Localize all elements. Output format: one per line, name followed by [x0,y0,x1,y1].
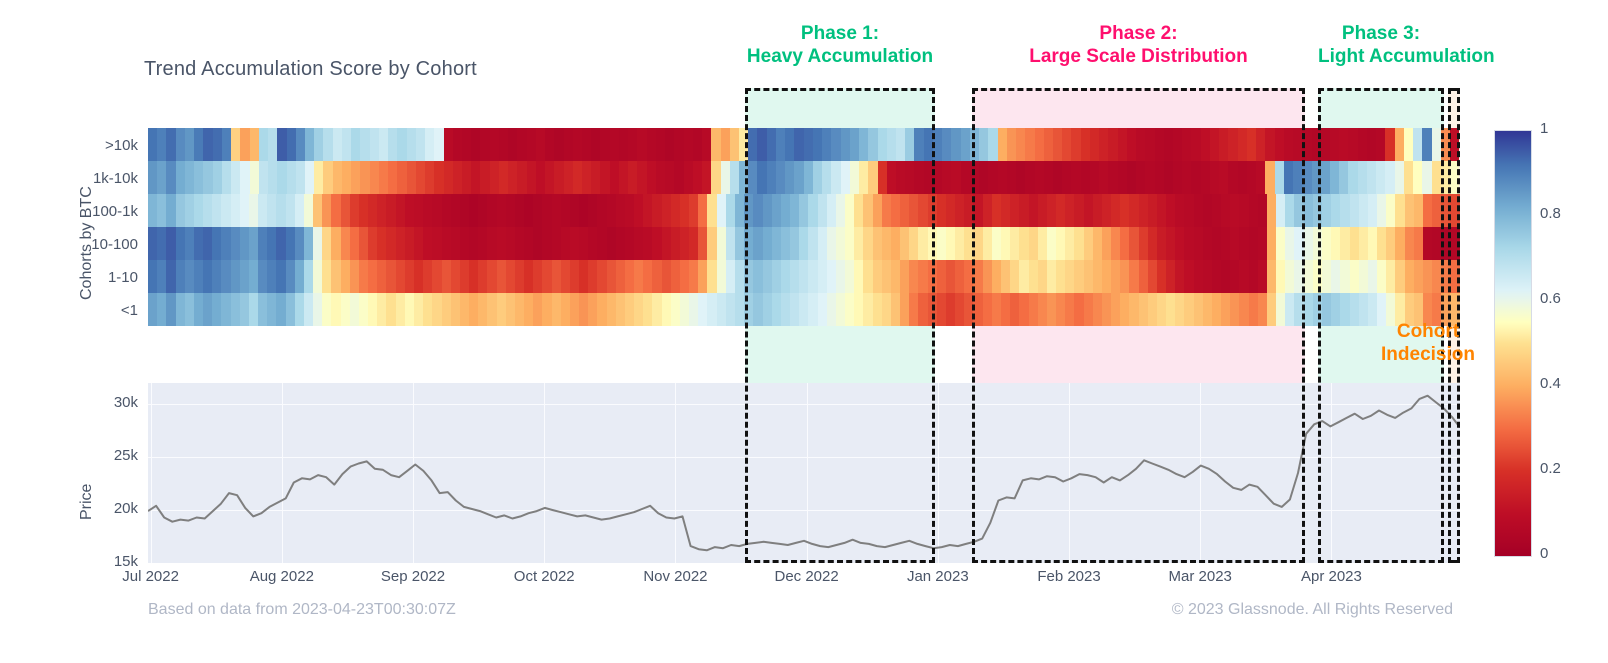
heatmap-cell [937,293,946,326]
price-y-tick: 25k [18,447,138,464]
heatmap-cell [536,128,545,161]
heatmap-cell [1304,260,1313,293]
heatmap-cell [379,161,388,194]
heatmap-cell [625,260,634,293]
heatmap-cell [287,161,296,194]
heatmap-cell [573,128,582,161]
heatmap-cell [432,260,441,293]
heatmap-cell [194,161,203,194]
heatmap-cell [570,293,579,326]
heatmap-cell [166,293,175,326]
heatmap-cell [157,260,166,293]
heatmap-cell [643,194,652,227]
heatmap-cell [405,260,414,293]
heatmap-cell [277,161,286,194]
heatmap-cell [561,293,570,326]
heatmap-cell [735,293,744,326]
phase-2-title: Phase 2: [972,22,1305,45]
colorbar-tick: 0 [1540,545,1548,562]
phase-1-border [745,88,935,563]
heatmap-cell [386,260,395,293]
heatmap-cell [323,161,332,194]
heatmap-cell [350,260,359,293]
heatmap-cell [499,128,508,161]
heatmap-cell [506,227,515,260]
heatmap-cell [588,260,597,293]
heatmap-cell [185,194,194,227]
heatmap-cell [721,161,730,194]
colorbar-tick: 1 [1540,120,1548,137]
x-axis-tick: Sep 2022 [353,568,473,585]
heatmap-cell [582,161,591,194]
heatmap-cell [148,227,157,260]
heatmap-cell [176,260,185,293]
heatmap-cell [295,194,304,227]
heatmap-cell [185,293,194,326]
heatmap-cell [717,293,726,326]
heatmap-cell [295,260,304,293]
heatmap-cell [647,161,656,194]
heatmap-cell [616,194,625,227]
heatmap-cell [176,227,185,260]
heatmap-cell [619,128,628,161]
cohort-indecision-title: Cohort [1368,320,1488,343]
heatmap-cell [157,128,166,161]
heatmap-cell [619,161,628,194]
phase-1-title: Phase 1: [745,22,935,45]
heatmap-cell [396,260,405,293]
heatmap-cell [698,293,707,326]
x-axis-tick: Jan 2023 [878,568,998,585]
heatmap-cell [527,128,536,161]
heatmap-cell [414,260,423,293]
heatmap-cell [287,128,296,161]
heatmap-cell [499,161,508,194]
price-y-tick: 30k [18,394,138,411]
heatmap-cell [625,293,634,326]
heatmap-cell [304,194,313,227]
heatmap-cell [258,293,267,326]
page-title: Trend Accumulation Score by Cohort [144,58,477,81]
heatmap-cell [148,194,157,227]
heatmap-cell [286,227,295,260]
heatmap-cell [176,128,185,161]
heatmap-cell [462,161,471,194]
heatmap-cell [194,194,203,227]
heatmap-cell [524,260,533,293]
heatmap-cell [377,227,386,260]
heatmap-cell [735,194,744,227]
heatmap-cell [946,260,955,293]
heatmap-cell [185,227,194,260]
heatmap-cell [469,227,478,260]
heatmap-cell [497,194,506,227]
heatmap-cell [561,260,570,293]
heatmap-cell [515,260,524,293]
heatmap-cell [955,293,964,326]
heatmap-cell [721,128,730,161]
heatmap-cell [397,161,406,194]
heatmap-cell [579,194,588,227]
heatmap-cell [671,260,680,293]
heatmap-cell [647,128,656,161]
heatmap-cell [600,128,609,161]
heatmap-cell [377,293,386,326]
heatmap-cell [148,161,157,194]
heatmap-cell [194,260,203,293]
heatmap-cell [711,161,720,194]
heatmap-cell [231,227,240,260]
heatmap-cell [267,227,276,260]
heatmap-cell [480,128,489,161]
heatmap-cell [368,194,377,227]
heatmap-cell [423,260,432,293]
heatmap-cell [564,161,573,194]
heatmap-cell [331,194,340,227]
heatmap-cell [951,128,960,161]
heatmap-cell [702,128,711,161]
heatmap-cell [487,227,496,260]
heatmap-cell [148,260,157,293]
heatmap-cell [240,293,249,326]
heatmap-cell [717,194,726,227]
heatmap-cell [370,161,379,194]
heatmap-cell [637,128,646,161]
heatmap-cell [286,260,295,293]
heatmap-cell [194,227,203,260]
heatmap-cell [533,260,542,293]
heatmap-cell [286,293,295,326]
heatmap-cell [561,194,570,227]
heatmap-cell [607,293,616,326]
heatmap-cell [451,293,460,326]
heatmap-cell [295,227,304,260]
heatmap-cell [388,161,397,194]
heatmap-cell [212,194,221,227]
heatmap-cell [552,194,561,227]
heatmap-cell [634,260,643,293]
heatmap-cell [506,293,515,326]
heatmap-cell [628,128,637,161]
heatmap-cell [331,293,340,326]
x-axis-tick: Dec 2022 [747,568,867,585]
phase-1-label: Phase 1: Heavy Accumulation [745,22,935,68]
heatmap-cell [342,161,351,194]
heatmap-cell [322,227,331,260]
heatmap-cell [434,161,443,194]
heatmap-cell [296,128,305,161]
heatmap-cell [506,194,515,227]
heatmap-cell [405,293,414,326]
heatmap-cell [625,227,634,260]
heatmap-cell [946,293,955,326]
heatmap-cell [937,260,946,293]
cohort-indecision-subtitle: Indecision [1368,343,1488,366]
copyright-footer: © 2023 Glassnode. All Rights Reserved [1172,601,1453,619]
heatmap-cell [693,128,702,161]
heatmap-cell [726,194,735,227]
heatmap-cell [597,260,606,293]
heatmap-cell [407,161,416,194]
heatmap-cell [231,260,240,293]
heatmap-cell [148,128,157,161]
phase-3-label: Phase 3: Light Accumulation [1318,22,1444,68]
heatmap-cell [533,293,542,326]
heatmap-cell [416,161,425,194]
heatmap-cell [396,227,405,260]
heatmap-cell [591,128,600,161]
x-axis-tick: Mar 2023 [1140,568,1260,585]
heatmap-cell [545,161,554,194]
heatmap-cell [542,194,551,227]
heatmap-cell [276,194,285,227]
heatmap-cell [166,227,175,260]
heatmap-cell [240,194,249,227]
heatmap-cell [460,194,469,227]
heatmap-cell [478,260,487,293]
heatmap-cell [451,227,460,260]
heatmap-cell [453,128,462,161]
heatmap-cell [698,260,707,293]
heatmap-cell [231,128,240,161]
heatmap-cell [600,161,609,194]
heatmap-cell [570,260,579,293]
heatmap-cell [533,194,542,227]
heatmap-cell [444,128,453,161]
heatmap-y-tick: 1k-10k [0,170,138,187]
heatmap-cell [341,194,350,227]
heatmap-cell [368,293,377,326]
heatmap-cell [652,260,661,293]
heatmap-cell [313,227,322,260]
heatmap-cell [423,194,432,227]
heatmap-y-tick: >10k [0,137,138,154]
heatmap-cell [643,293,652,326]
heatmap-cell [961,128,970,161]
heatmap-cell [194,293,203,326]
heatmap-cell [341,227,350,260]
heatmap-cell [579,227,588,260]
heatmap-cell [517,161,526,194]
heatmap-cell [212,293,221,326]
heatmap-cell [360,128,369,161]
heatmap-cell [240,260,249,293]
heatmap-cell [166,194,175,227]
heatmap-cell [707,227,716,260]
x-axis-tick: Oct 2022 [484,568,604,585]
heatmap-cell [478,293,487,326]
heatmap-cell [680,227,689,260]
heatmap-cell [213,128,222,161]
heatmap-cell [313,293,322,326]
heatmap-cell [497,260,506,293]
heatmap-cell [249,194,258,227]
heatmap-cell [487,293,496,326]
heatmap-cell [628,161,637,194]
phase-3-subtitle: Light Accumulation [1318,45,1444,68]
heatmap-cell [607,227,616,260]
heatmap-cell [414,293,423,326]
heatmap-cell [652,227,661,260]
heatmap-cell [379,128,388,161]
heatmap-cell [625,194,634,227]
x-axis-tick: Aug 2022 [222,568,342,585]
heatmap-cell [684,161,693,194]
cohort-indecision-label: Cohort Indecision [1368,320,1488,366]
heatmap-cell [359,293,368,326]
heatmap-cell [698,227,707,260]
heatmap-cell [656,161,665,194]
heatmap-cell [726,227,735,260]
heatmap-cell [322,194,331,227]
heatmap-cell [350,293,359,326]
heatmap-cell [478,227,487,260]
heatmap-cell [597,227,606,260]
heatmap-cell [1304,194,1313,227]
heatmap-cell [671,227,680,260]
x-axis-tick: Apr 2023 [1271,568,1391,585]
heatmap-cell [588,194,597,227]
phase-1-subtitle: Heavy Accumulation [745,45,935,68]
heatmap-cell [942,128,951,161]
heatmap-cell [597,194,606,227]
heatmap-cell [508,128,517,161]
heatmap-cell [680,194,689,227]
heatmap-cell [221,227,230,260]
heatmap-cell [213,161,222,194]
heatmap-cell [634,293,643,326]
heatmap-cell [937,227,946,260]
heatmap-cell [397,128,406,161]
heatmap-cell [240,128,249,161]
heatmap-cell [735,227,744,260]
heatmap-cell [515,293,524,326]
heatmap-cell [497,227,506,260]
heatmap-cell [542,260,551,293]
heatmap-cell [268,128,277,161]
heatmap-cell [322,293,331,326]
heatmap-cell [545,128,554,161]
heatmap-cell [423,227,432,260]
heatmap-cell [405,227,414,260]
heatmap-cell [460,260,469,293]
heatmap-cell [267,293,276,326]
heatmap-cell [637,161,646,194]
heatmap-cell [240,161,249,194]
heatmap-cell [471,128,480,161]
heatmap-cell [258,227,267,260]
heatmap-cell [662,194,671,227]
heatmap-cell [258,194,267,227]
heatmap-cell [359,227,368,260]
heatmap-cell [350,194,359,227]
heatmap-cell [579,260,588,293]
heatmap-cell [662,293,671,326]
heatmap-cell [610,161,619,194]
heatmap-cell [937,194,946,227]
heatmap-cell [157,194,166,227]
colorbar-tick: 0.4 [1540,375,1561,392]
heatmap-cell [671,194,680,227]
heatmap-cell [250,128,259,161]
heatmap-cell [221,194,230,227]
heatmap-cell [730,128,739,161]
heatmap-cell [462,128,471,161]
heatmap-cell [341,293,350,326]
heatmap-cell [487,260,496,293]
colorbar-tick: 0.6 [1540,290,1561,307]
heatmap-cell [414,227,423,260]
heatmap-cell [656,128,665,161]
heatmap-cell [564,128,573,161]
heatmap-cell [665,161,674,194]
heatmap-cell [1304,227,1313,260]
heatmap-cell [377,260,386,293]
heatmap-cell [259,161,268,194]
heatmap-cell [634,194,643,227]
heatmap-cell [674,161,683,194]
heatmap-cell [689,260,698,293]
heatmap-cell [662,227,671,260]
heatmap-cell [552,260,561,293]
heatmap-cell [185,161,194,194]
phase-2-subtitle: Large Scale Distribution [972,45,1305,68]
colorbar-tick: 0.2 [1540,460,1561,477]
heatmap-cell [573,161,582,194]
heatmap-cell [693,161,702,194]
heatmap-cell [951,161,960,194]
heatmap-cell [249,293,258,326]
heatmap-cell [166,260,175,293]
heatmap-cell [946,227,955,260]
heatmap-cell [212,227,221,260]
heatmap-cell [442,260,451,293]
heatmap-cell [533,227,542,260]
heatmap-cell [497,293,506,326]
x-axis-tick: Nov 2022 [615,568,735,585]
heatmap-cell [386,194,395,227]
heatmap-cell [702,161,711,194]
heatmap-cell [286,194,295,227]
heatmap-cell [148,293,157,326]
heatmap-cell [203,194,212,227]
heatmap-cell [726,293,735,326]
heatmap-cell [231,293,240,326]
heatmap-cell [221,260,230,293]
heatmap-cell [607,260,616,293]
heatmap-cell [350,227,359,260]
heatmap-cell [212,260,221,293]
heatmap-cell [955,227,964,260]
heatmap-cell [351,161,360,194]
heatmap-cell [250,161,259,194]
heatmap-cell [203,260,212,293]
heatmap-cell [176,293,185,326]
heatmap-y-tick: 1-10 [0,269,138,286]
heatmap-cell [469,194,478,227]
heatmap-cell [671,293,680,326]
heatmap-cell [665,128,674,161]
heatmap-cell [680,260,689,293]
heatmap-cell [552,227,561,260]
heatmap-cell [616,293,625,326]
heatmap-cell [432,227,441,260]
heatmap-cell [680,293,689,326]
heatmap-cell [203,161,212,194]
heatmap-cell [469,260,478,293]
heatmap-cell [451,194,460,227]
heatmap-cell [276,293,285,326]
